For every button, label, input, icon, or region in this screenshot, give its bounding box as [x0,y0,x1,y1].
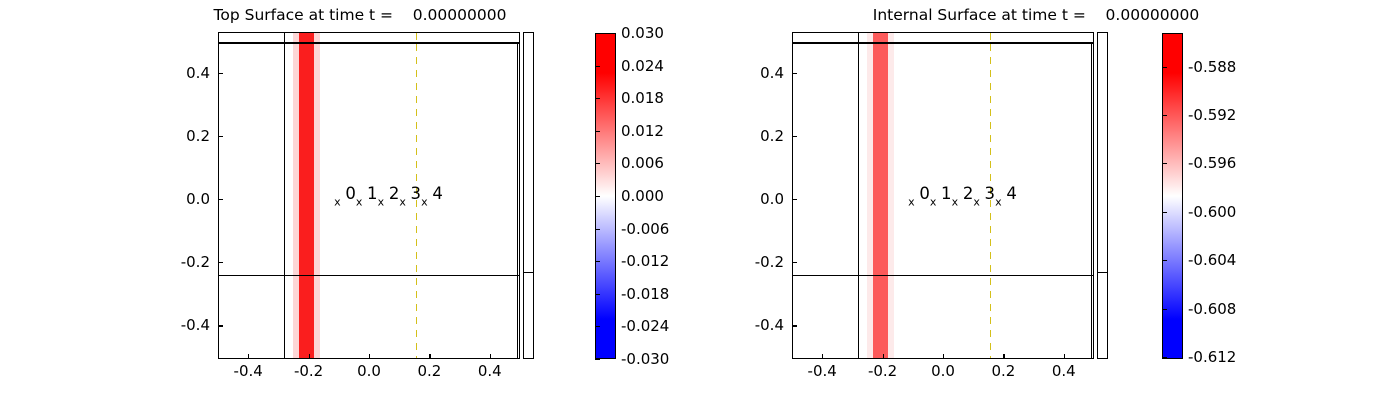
xtick-label-4: 0.4 [478,362,502,380]
xtick-label-3: 0.2 [417,362,441,380]
ytick-label-4: -0.4 [150,316,210,334]
data-marker-4: x [421,197,428,208]
data-marker-label-4: 4 [1006,186,1017,203]
ytick-label-4: -0.4 [724,316,784,334]
data-marker-4: x [995,197,1002,208]
structural-vline [284,33,285,42]
colorbar-tick [1162,260,1167,261]
ytick-mark [218,199,223,200]
top-strip-region-right [792,32,1094,43]
panel-top-surface: Top Surface at time t = 0.00000000 x 0 x… [0,0,700,400]
ytick-mark [792,325,797,326]
data-marker-1: x [356,197,363,208]
xtick-label-2: 0.0 [931,362,955,380]
dashed-marker-line [990,33,992,42]
colorbar-tick [595,261,600,262]
colorbar-label-10: -0.030 [621,350,669,368]
field-band-core [873,44,888,358]
figure-canvas: Top Surface at time t = 0.00000000 x 0 x… [0,0,1400,400]
data-marker-1: x [930,197,937,208]
ytick-mark [218,262,223,263]
colorbar-label-1: 0.024 [621,57,664,75]
data-marker-2: x [952,197,959,208]
data-marker-3: x [399,197,406,208]
colorbar-label-4: -0.604 [1188,251,1236,269]
colorbar-tick [595,163,600,164]
colorbar-label-3: -0.600 [1188,203,1236,221]
colorbar-tick [595,66,600,67]
right-strip-region-right [1097,32,1108,359]
colorbar-internal-surface [1162,33,1183,359]
colorbar-tick [595,33,600,34]
colorbar-label-6: -0.006 [621,220,669,238]
colorbar-label-4: 0.006 [621,154,664,172]
ytick-mark [218,325,223,326]
colorbar-tick [1162,357,1167,358]
data-marker-label-0: 0 [345,186,356,203]
data-marker-3: x [973,197,980,208]
colorbar-tick [595,131,600,132]
colorbar-tick [1162,115,1167,116]
colorbar-label-0: -0.588 [1188,58,1236,76]
colorbar-label-3: 0.012 [621,122,664,140]
panel-title-top-surface: Top Surface at time t = 0.00000000 [110,8,610,24]
colorbar-tick [1162,309,1167,310]
xtick-mark [429,354,430,359]
band-core [873,33,888,42]
data-marker-label-2: 2 [389,186,400,203]
axes-internal-surface: x 0 x 1 x 2 x 3 x 4 [792,43,1094,359]
colorbar-label-0: 0.030 [621,24,664,42]
ytick-mark [792,262,797,263]
dashed-marker-line [416,33,418,42]
data-marker-label-4: 4 [432,186,443,203]
colorbar-label-5: 0.000 [621,187,664,205]
data-marker-label-1: 1 [941,186,952,203]
data-marker-label-3: 3 [411,186,422,203]
colorbar-label-2: 0.018 [621,89,664,107]
colorbar-label-2: -0.596 [1188,154,1236,172]
colorbar-label-8: -0.018 [621,285,669,303]
structural-hline [524,272,533,273]
xtick-label-4: 0.4 [1052,362,1076,380]
colorbar-label-5: -0.608 [1188,300,1236,318]
xtick-mark [883,354,884,359]
panel-internal-surface: Internal Surface at time t = 0.00000000 … [700,0,1400,400]
structural-vline-2 [517,44,518,358]
colorbar-label-1: -0.592 [1188,106,1236,124]
colorbar-tick [595,294,600,295]
ytick-mark [218,73,223,74]
structural-vline-1 [858,44,859,358]
data-marker-label-0: 0 [919,186,930,203]
ytick-label-0: 0.4 [158,64,210,82]
colorbar-tick [595,359,600,360]
colorbar-tick [1162,212,1167,213]
structural-vline [858,33,859,42]
data-marker-label-3: 3 [985,186,996,203]
axes-top-surface: x 0 x 1 x 2 x 3 x 4 [218,43,520,359]
xtick-label-1: -0.2 [294,362,323,380]
ytick-mark [792,136,797,137]
structural-vline-2 [1091,44,1092,358]
colorbar-tick [595,196,600,197]
xtick-mark [822,354,823,359]
ytick-label-0: 0.4 [732,64,784,82]
xtick-mark [943,354,944,359]
colorbar-tick [595,98,600,99]
xtick-label-2: 0.0 [357,362,381,380]
structural-hline [1098,272,1107,273]
xtick-mark [369,354,370,359]
colorbar-label-9: -0.024 [621,317,669,335]
colorbar-tick [1162,67,1167,68]
panel-title-internal-surface: Internal Surface at time t = 0.00000000 [776,8,1296,24]
xtick-mark [490,354,491,359]
colorbar-label-6: -0.612 [1188,348,1236,366]
data-marker-label-1: 1 [367,186,378,203]
structural-vline-1 [284,44,285,358]
xtick-mark [248,354,249,359]
top-strip-region-left [218,32,520,43]
right-strip-region-left [523,32,534,359]
xtick-mark [309,354,310,359]
structural-hline-1 [219,275,519,276]
ytick-label-2: 0.0 [732,190,784,208]
xtick-mark [1064,354,1065,359]
ytick-label-1: 0.2 [732,127,784,145]
data-marker-0: x [334,197,341,208]
structural-hline-1 [793,275,1093,276]
colorbar-tick [595,326,600,327]
xtick-mark [1003,354,1004,359]
colorbar-tick [595,229,600,230]
ytick-mark [218,136,223,137]
data-marker-0: x [908,197,915,208]
ytick-mark [792,73,797,74]
xtick-label-3: 0.2 [991,362,1015,380]
field-band-core [299,44,314,358]
colorbar-label-7: -0.012 [621,252,669,270]
data-marker-2: x [378,197,385,208]
ytick-label-3: -0.2 [150,253,210,271]
data-marker-label-2: 2 [963,186,974,203]
ytick-label-1: 0.2 [158,127,210,145]
band-core [299,33,314,42]
xtick-label-0: -0.4 [808,362,837,380]
ytick-label-2: 0.0 [158,190,210,208]
xtick-label-0: -0.4 [234,362,263,380]
ytick-label-3: -0.2 [724,253,784,271]
ytick-mark [792,199,797,200]
colorbar-tick [1162,163,1167,164]
xtick-label-1: -0.2 [868,362,897,380]
